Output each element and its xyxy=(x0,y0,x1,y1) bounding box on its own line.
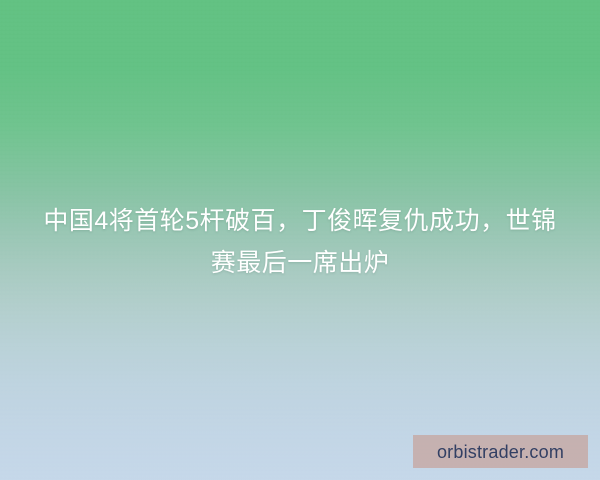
site-watermark: orbistrader.com xyxy=(413,435,588,468)
article-cover-image: 中国4将首轮5杆破百，丁俊晖复仇成功，世锦赛最后一席出炉 orbistrader… xyxy=(0,0,600,480)
headline-text: 中国4将首轮5杆破百，丁俊晖复仇成功，世锦赛最后一席出炉 xyxy=(0,200,600,284)
watermark-domain-label: orbistrader.com xyxy=(437,443,564,461)
